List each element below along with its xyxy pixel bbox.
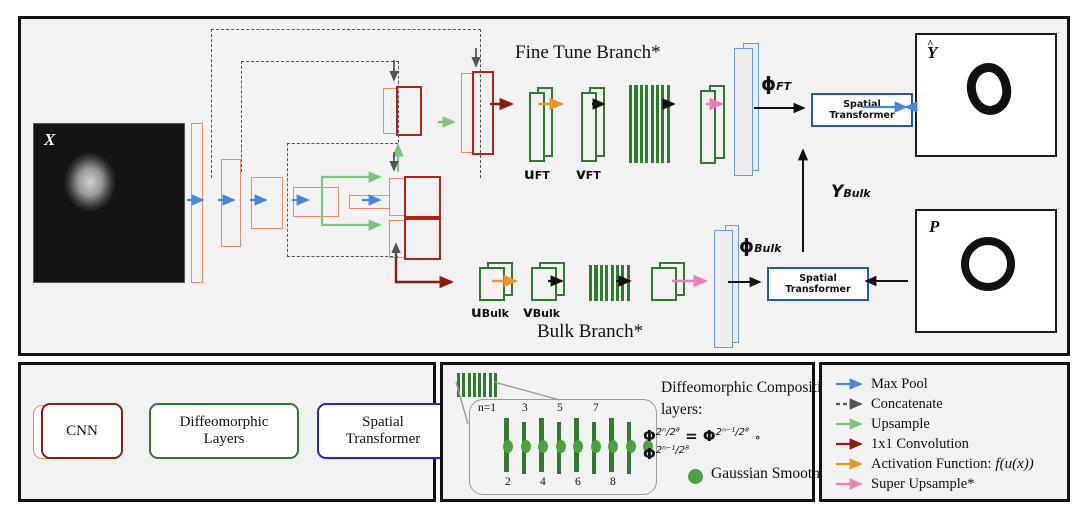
diffeo-stripe	[616, 265, 619, 301]
decoder-ft-lower-dark	[404, 176, 441, 218]
legend-cnn-box[interactable]: CNN	[41, 403, 123, 459]
diffeo-stripe	[468, 373, 471, 397]
legend-arrow-label: Concatenate	[871, 396, 943, 413]
diffeo-stripe	[640, 85, 643, 163]
diffeo-stripe	[627, 265, 630, 301]
input-image-label: X	[44, 130, 55, 150]
v-ft-subscript: FT	[586, 169, 601, 182]
legend-arrows-panel: Max PoolConcatenateUpsample1x1 Convoluti…	[819, 362, 1070, 502]
gaussian-smoothing-dot	[503, 440, 513, 453]
diffeo-stripe	[457, 373, 460, 397]
gaussian-smoothing-dot	[573, 440, 583, 453]
y-bulk-label: YBulk	[831, 182, 871, 202]
legend-architecture-panel: CNN Diffeomorphic Layers Spatial Transfo…	[18, 362, 436, 502]
formula-circ: ∘	[754, 431, 761, 444]
phi-ft-symbol: ϕ	[761, 73, 776, 95]
legend-cnn-label: CNN	[66, 423, 98, 440]
diffeo-stripe	[621, 265, 624, 301]
concat-skip-3	[287, 143, 398, 257]
diffeo-stripe	[478, 373, 481, 397]
inset-num-n1: n=1	[478, 402, 496, 414]
prior-image: P	[915, 209, 1057, 333]
v-ft-block-front	[581, 92, 597, 162]
prediction-label: ^ Y	[927, 39, 937, 58]
legend-spatial-transformer-box[interactable]: Spatial Transformer	[317, 403, 449, 459]
input-mri-image: X	[33, 123, 185, 283]
legend-arrow-row: Super Upsample*	[834, 475, 975, 493]
diffeo-stripe	[489, 373, 492, 397]
legend-arrow-row: Upsample	[834, 415, 930, 433]
diffeo-stripe	[473, 373, 476, 397]
formula-exp-2: 2ⁿ⁻¹/2⁸	[716, 427, 749, 438]
diffeo-stripe	[651, 85, 654, 163]
legend-arrow-icon	[834, 377, 868, 391]
diffeo-stripe	[656, 85, 659, 163]
spatial-transformer-bulk-text: Spatial Transformer	[785, 273, 850, 295]
v-bulk-block-front	[531, 267, 557, 301]
phi-ft-green-front	[700, 90, 716, 164]
gaussian-smoothing-dot-icon	[688, 469, 703, 484]
phi-ft-subscript: FT	[776, 80, 791, 93]
legend-arrow-formula: f(u(x))	[995, 456, 1033, 473]
u-bulk-label: uBulk	[471, 303, 509, 322]
legend-arrow-row: 1x1 Convolution	[834, 435, 969, 453]
v-bulk-label: vBulk	[523, 303, 560, 322]
y-bulk-symbol: Y	[831, 182, 843, 202]
bulk-branch-title: Bulk Branch*	[537, 321, 643, 343]
phi-bulk-symbol: ϕ	[739, 235, 754, 257]
y-bulk-subscript: Bulk	[843, 187, 870, 200]
v-bulk-subscript: Bulk	[533, 307, 560, 320]
v-ft-label: vFT	[576, 165, 601, 184]
prior-contour-shape	[961, 237, 1015, 291]
u-bulk-subscript: Bulk	[482, 307, 509, 320]
diffeo-composition-block-ft	[629, 85, 677, 163]
diffeo-stripe	[594, 265, 597, 301]
legend-arrow-icon	[834, 417, 868, 431]
inset-num-8: 8	[610, 476, 616, 488]
inset-num-2: 2	[505, 476, 511, 488]
spatial-transformer-ft-text: Spatial Transformer	[829, 99, 894, 121]
legend-st-line1: Spatial	[362, 414, 404, 431]
diffeo-stripe	[462, 373, 465, 397]
gaussian-smoothing-dot	[591, 440, 601, 453]
inset-num-7: 7	[593, 402, 599, 414]
legend-arrow-label: Super Upsample*	[871, 476, 975, 493]
st-ft-line2: Transformer	[829, 110, 894, 121]
phi-bulk-label: ϕBulk	[739, 235, 781, 257]
legend-arrow-icon	[834, 437, 868, 451]
diffeo-title-line1: Diffeomorphic Composition	[661, 379, 837, 397]
legend-arrow-label: 1x1 Convolution	[871, 436, 969, 453]
diffeo-composition-block-bulk	[589, 265, 633, 301]
inset-num-5: 5	[557, 402, 563, 414]
diffeo-stripe	[605, 265, 608, 301]
gaussian-smoothing-dot	[626, 440, 636, 453]
legend-diffeomorphic-panel: n=1 3 5 7 2 4 6 8 Diffeomorphic Composit…	[440, 362, 815, 502]
inset-num-4: 4	[540, 476, 546, 488]
gaussian-smoothing-dot	[521, 440, 531, 453]
u-bulk-block-front	[479, 267, 505, 301]
gaussian-smoothing-dot	[608, 440, 618, 453]
legend-arrow-label: Max Pool	[871, 376, 928, 393]
diffeo-stripes-icon	[457, 373, 497, 397]
v-bulk-symbol: v	[523, 303, 533, 321]
u-ft-block-front	[529, 92, 545, 162]
diffeo-stripe	[494, 373, 497, 397]
st-ft-line1: Spatial	[829, 99, 894, 110]
u-ft-subscript: FT	[535, 169, 550, 182]
legend-arrow-icon	[834, 397, 868, 411]
diffeo-stripe	[667, 85, 670, 163]
formula-eq: =	[685, 427, 698, 445]
legend-arrow-icon	[834, 477, 868, 491]
main-architecture-panel: X Fine Tune Branch* uFT vFT	[18, 16, 1070, 356]
legend-st-line2: Transformer	[346, 431, 420, 448]
diffeo-stripe	[483, 373, 486, 397]
st-bulk-line1: Spatial	[785, 273, 850, 284]
spatial-transformer-bulk[interactable]: Spatial Transformer	[767, 267, 869, 301]
u-ft-symbol: u	[524, 165, 535, 183]
prior-label: P	[929, 217, 939, 237]
formula-phi-3: Φ	[643, 445, 656, 463]
inset-num-3: 3	[522, 402, 528, 414]
legend-arrow-label: Activation Function:	[871, 456, 991, 473]
formula-exp-3: 2ⁿ⁻¹/2⁸	[656, 445, 689, 456]
legend-arrow-label: Upsample	[871, 416, 930, 433]
encoder-block-3	[251, 177, 283, 229]
diffeo-stripe	[611, 265, 614, 301]
diffeo-stripe	[661, 85, 664, 163]
diffeo-formula: Φ2ⁿ/2⁸ = Φ2ⁿ⁻¹/2⁸ ∘ Φ2ⁿ⁻¹/2⁸	[643, 427, 812, 463]
legend-diffeo-layers-box[interactable]: Diffeomorphic Layers	[149, 403, 299, 459]
formula-exp-1: 2ⁿ/2⁸	[656, 427, 680, 438]
encoder-block-1	[191, 123, 203, 283]
phi-bulk-blue-front	[714, 230, 733, 348]
prediction-contour-shape	[964, 60, 1015, 118]
gaussian-smoothing-dot	[556, 440, 566, 453]
diffeo-stripe	[634, 85, 637, 163]
legend-arrow-row: Max Pool	[834, 375, 928, 393]
u-bulk-symbol: u	[471, 303, 482, 321]
spatial-transformer-ft[interactable]: Spatial Transformer	[811, 93, 913, 127]
legend-diffeo-line2: Layers	[204, 431, 245, 448]
diffeo-stripe	[589, 265, 592, 301]
diffeo-stripe	[645, 85, 648, 163]
formula-phi-1: Φ	[643, 427, 656, 445]
fine-tune-branch-title: Fine Tune Branch*	[515, 42, 661, 64]
st-bulk-line2: Transformer	[785, 284, 850, 295]
output-prediction-image: ^ Y	[915, 33, 1057, 157]
legend-arrow-row: Activation Function:f(u(x))	[834, 455, 1034, 473]
inset-num-6: 6	[575, 476, 581, 488]
legend-arrow-row: Concatenate	[834, 395, 943, 413]
formula-phi-2: Φ	[703, 427, 716, 445]
phi-ft-blue-front	[734, 48, 753, 176]
diffeo-stripe	[600, 265, 603, 301]
u-ft-label: uFT	[524, 165, 550, 184]
figure-root: X Fine Tune Branch* uFT vFT	[0, 0, 1086, 516]
phi-bulk-green-front	[651, 267, 677, 301]
phi-bulk-subscript: Bulk	[754, 242, 781, 255]
diffeo-title-line2: layers:	[661, 401, 702, 419]
diffeo-inset-panel: n=1 3 5 7 2 4 6 8	[469, 399, 657, 495]
legend-diffeo-line1: Diffeomorphic	[180, 414, 269, 431]
legend-arrow-icon	[834, 457, 868, 471]
diffeo-stripe	[629, 85, 632, 163]
decoder-bulk-lower-dark	[404, 218, 441, 260]
prediction-base-label: Y	[927, 47, 937, 58]
v-ft-symbol: v	[576, 165, 586, 183]
gaussian-smoothing-dot	[538, 440, 548, 453]
phi-ft-label: ϕFT	[761, 73, 791, 95]
